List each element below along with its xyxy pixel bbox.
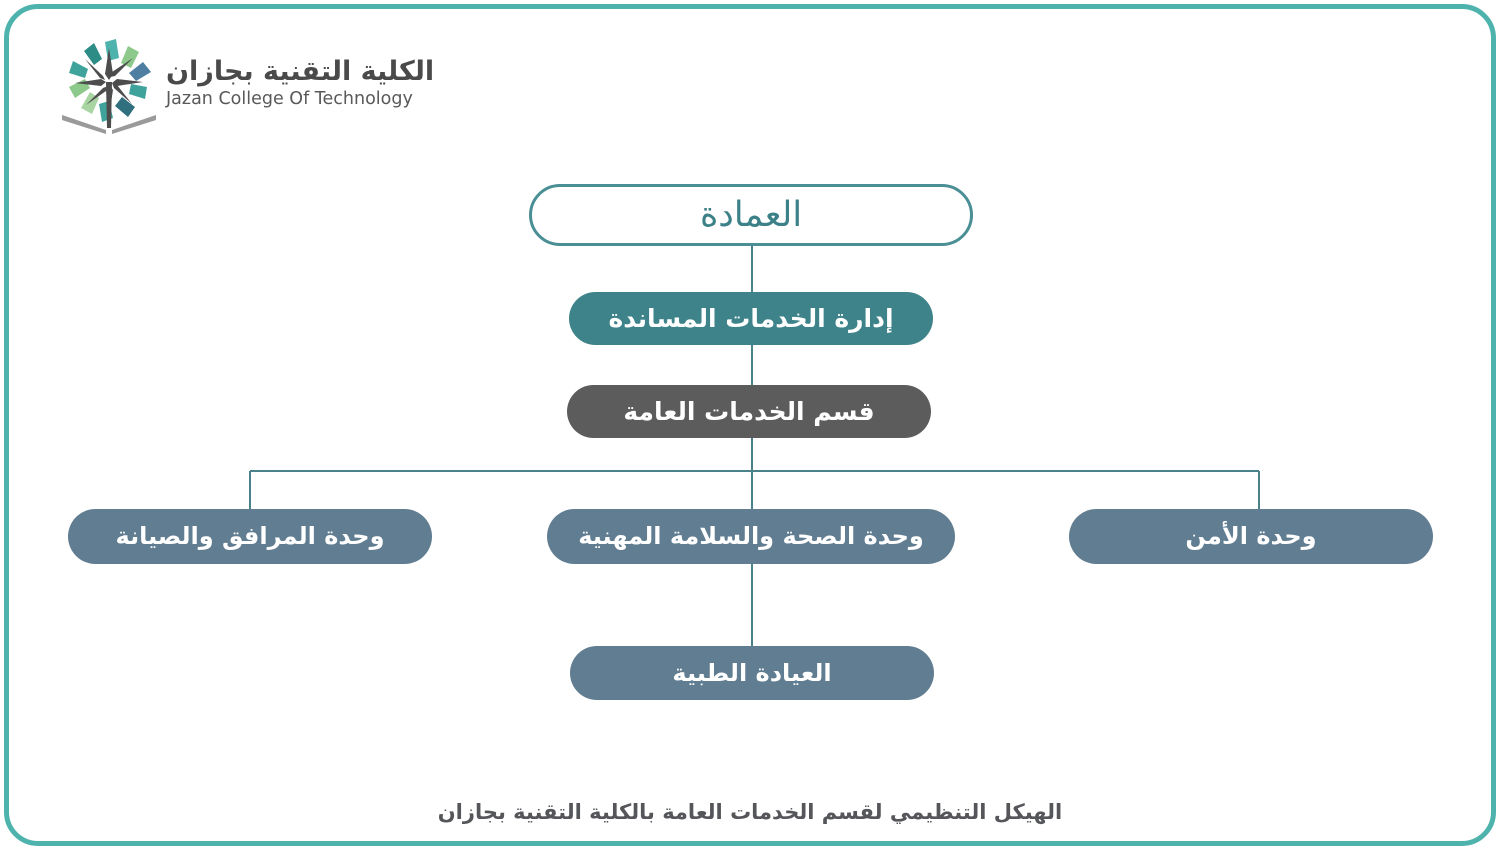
org-node-security-unit[interactable]: وحدة الأمن bbox=[1069, 509, 1433, 564]
organizational-chart-page: الكلية التقنية بجازان Jazan College Of T… bbox=[0, 0, 1500, 850]
chart-caption: الهيكل التنظيمي لقسم الخدمات العامة بالك… bbox=[0, 800, 1500, 824]
org-node-general-services-dept[interactable]: قسم الخدمات العامة bbox=[567, 385, 931, 438]
org-node-facilities-maintenance-unit[interactable]: وحدة المرافق والصيانة bbox=[68, 509, 432, 564]
org-node-deanship[interactable]: العمادة bbox=[529, 184, 973, 246]
org-node-medical-clinic[interactable]: العيادة الطبية bbox=[570, 646, 934, 700]
org-node-support-services-admin[interactable]: إدارة الخدمات المساندة bbox=[569, 292, 933, 345]
org-node-health-safety-unit[interactable]: وحدة الصحة والسلامة المهنية bbox=[547, 509, 955, 564]
